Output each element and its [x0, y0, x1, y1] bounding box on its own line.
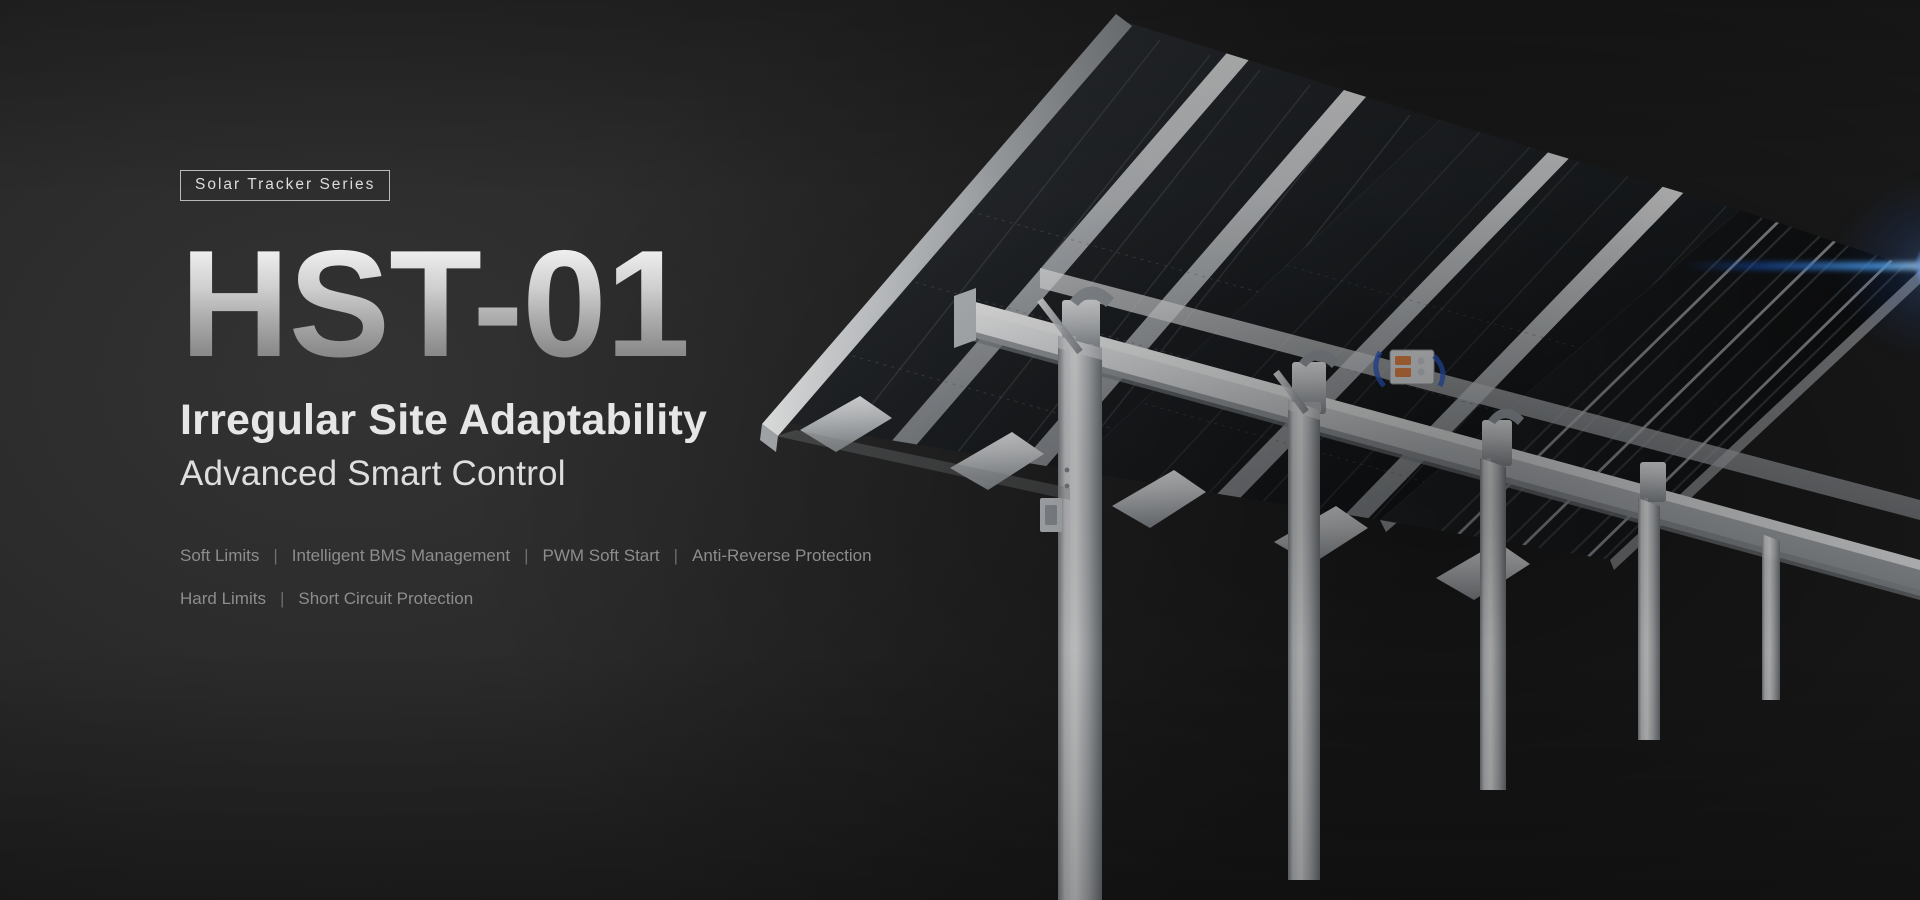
page-title: HST-01 — [180, 235, 1040, 375]
diagonal-brace-group — [1040, 300, 1306, 412]
bearing-clamp — [1292, 349, 1339, 414]
subheadline: Advanced Smart Control — [180, 454, 1040, 494]
feature-row: Hard Limits|Short Circuit Protection — [180, 590, 1040, 607]
bearing-clamp — [1062, 286, 1114, 356]
bearing-clamp — [1640, 462, 1666, 502]
tracker-controller-module — [1376, 350, 1443, 386]
post-bracket — [1040, 498, 1062, 532]
feature-item: Short Circuit Protection — [298, 590, 473, 607]
flare-glow — [1835, 178, 1920, 358]
feature-item: Hard Limits — [180, 590, 266, 607]
feature-separator: | — [660, 547, 692, 564]
panel-module-group-b — [1060, 120, 1800, 590]
feature-separator: | — [259, 547, 291, 564]
panel-module-group-c — [1380, 210, 1920, 616]
support-post — [1288, 400, 1320, 880]
support-post — [1480, 458, 1506, 790]
series-badge: Solar Tracker Series — [180, 170, 390, 201]
support-post — [1638, 498, 1660, 740]
hero-copy-block: Solar Tracker Series HST-01 Irregular Si… — [180, 170, 1040, 607]
feature-item: Soft Limits — [180, 547, 259, 564]
bearing-clamp-group — [1062, 286, 1666, 502]
feature-item: PWM Soft Start — [543, 547, 660, 564]
secondary-beam — [1040, 268, 1920, 520]
feature-separator: | — [510, 547, 542, 564]
headline: Irregular Site Adaptability — [180, 396, 1040, 444]
feature-item: Anti-Reverse Protection — [692, 547, 872, 564]
torque-tube — [954, 288, 1920, 600]
hero-banner: Solar Tracker Series HST-01 Irregular Si… — [0, 0, 1920, 900]
support-post — [1040, 336, 1102, 900]
feature-separator: | — [266, 590, 298, 607]
support-post — [1762, 534, 1780, 700]
feature-list: Soft Limits|Intelligent BMS Management|P… — [180, 547, 1040, 607]
flare-streak-left — [1684, 262, 1920, 270]
bearing-clamp — [1482, 408, 1524, 466]
feature-item: Intelligent BMS Management — [292, 547, 510, 564]
lens-flare — [1780, 192, 1920, 342]
feature-row: Soft Limits|Intelligent BMS Management|P… — [180, 547, 1040, 564]
flare-core — [1915, 241, 1920, 293]
